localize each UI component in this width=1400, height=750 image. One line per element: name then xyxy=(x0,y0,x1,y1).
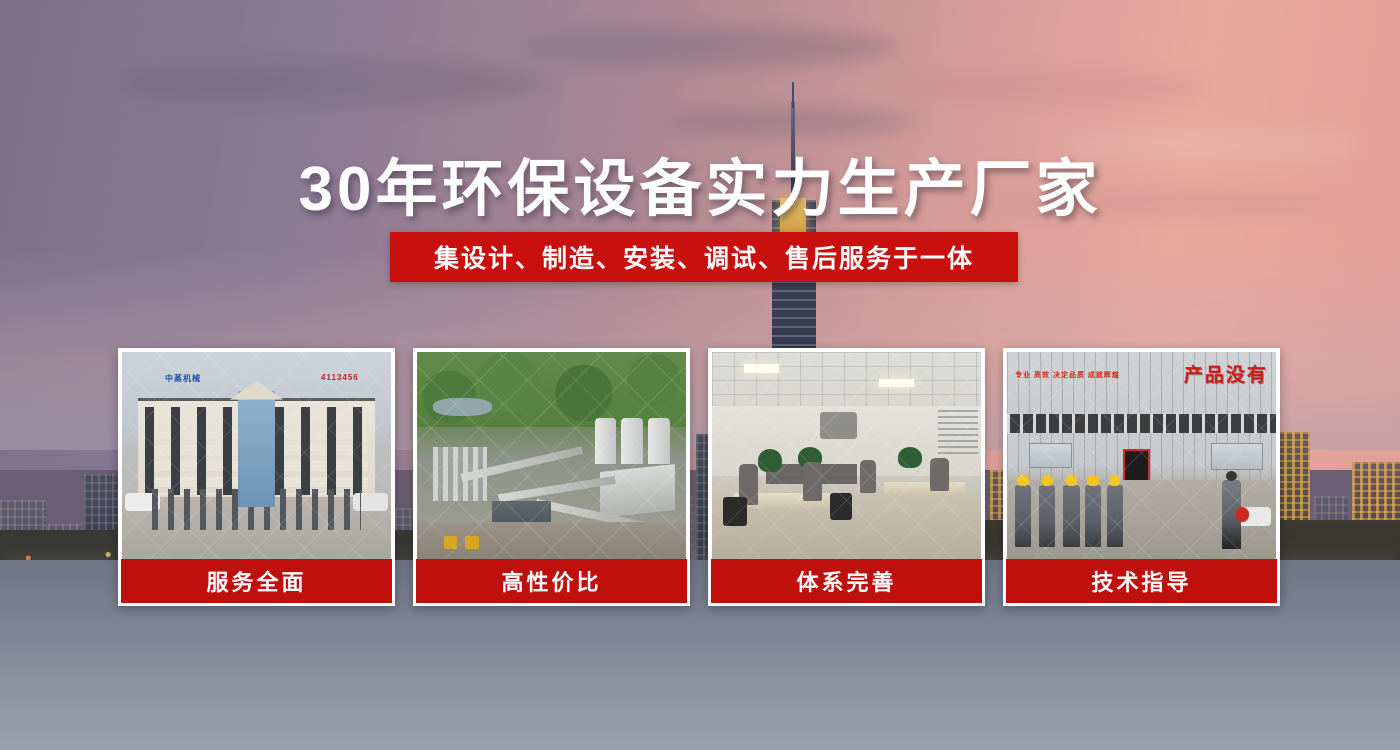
feature-card-list: 中蒸机械 4113456 服务全面 xyxy=(118,348,1282,606)
cloud xyxy=(880,70,1210,104)
building-phone-text: 4113456 xyxy=(321,373,359,382)
industrial-plant-photo xyxy=(417,352,686,559)
card-caption: 高性价比 xyxy=(413,559,690,606)
card-photo xyxy=(712,352,981,559)
factory-slogan-small: 专业 高效 决定品质 成就辉煌 xyxy=(1015,371,1120,382)
cloud xyxy=(660,110,920,134)
cloud xyxy=(120,60,550,106)
factory-workers-photo: 专业 高效 决定品质 成就辉煌 产品没有 xyxy=(1007,352,1276,559)
building-sign-text: 中蒸机械 xyxy=(165,373,201,384)
feature-card[interactable]: 中蒸机械 4113456 服务全面 xyxy=(118,348,395,606)
card-photo: 中蒸机械 4113456 xyxy=(122,352,391,559)
office-interior-photo xyxy=(712,352,981,559)
subtitle-banner: 集设计、制造、安装、调试、售后服务于一体 xyxy=(390,232,1018,282)
headquarters-photo: 中蒸机械 4113456 xyxy=(122,352,391,559)
page-title: 30年环保设备实力生产厂家 xyxy=(0,138,1400,228)
feature-card[interactable]: 体系完善 xyxy=(708,348,985,606)
banner-stage: 30年环保设备实力生产厂家 集设计、制造、安装、调试、售后服务于一体 中蒸机械 … xyxy=(0,0,1400,750)
card-photo xyxy=(417,352,686,559)
card-caption: 体系完善 xyxy=(708,559,985,606)
card-caption: 服务全面 xyxy=(118,559,395,606)
cloud xyxy=(520,28,900,66)
tower-spire-tip xyxy=(792,82,794,108)
feature-card[interactable]: 专业 高效 决定品质 成就辉煌 产品没有 xyxy=(1003,348,1280,606)
feature-card[interactable]: 高性价比 xyxy=(413,348,690,606)
card-photo: 专业 高效 决定品质 成就辉煌 产品没有 xyxy=(1007,352,1276,559)
card-caption: 技术指导 xyxy=(1003,559,1280,606)
factory-sign-text: 产品没有 xyxy=(1184,360,1268,387)
